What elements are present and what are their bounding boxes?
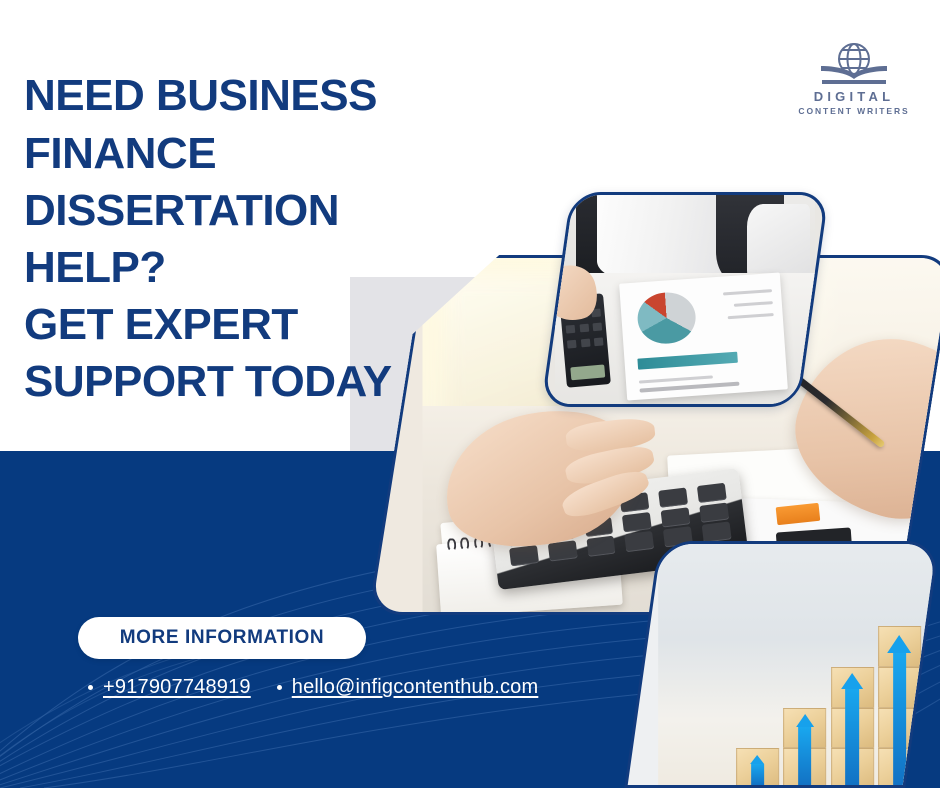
headline-line-1: NEED BUSINESS (24, 67, 494, 124)
phone-link[interactable]: +917907748919 (103, 676, 251, 699)
growth-arrow (790, 714, 820, 785)
headline-line-6: SUPPORT TODAY (24, 353, 494, 410)
globe-book-icon (815, 40, 893, 88)
logo-text-primary: DIGITAL (798, 89, 910, 104)
logo-text-secondary: CONTENT WRITERS (798, 106, 910, 116)
growth-arrow (742, 755, 772, 785)
pie-chart (636, 290, 697, 345)
brand-logo[interactable]: DIGITAL CONTENT WRITERS (798, 40, 910, 116)
financial-report-page (619, 272, 788, 400)
more-information-button[interactable]: MORE INFORMATION (78, 617, 366, 659)
email-link[interactable]: hello@infigcontenthub.com (292, 676, 539, 699)
headline-line-3: DISSERTATION (24, 182, 494, 239)
inset-photo-financial-report (541, 192, 829, 407)
headline-line-2: FINANCE (24, 125, 494, 182)
contact-email: hello@infigcontenthub.com (277, 676, 539, 699)
headline-line-4: HELP? (24, 239, 494, 296)
inset-photo-growth-blocks (624, 541, 940, 788)
bullet-icon (88, 685, 93, 690)
contact-list: +917907748919 hello@infigcontenthub.com (88, 676, 538, 699)
headline: NEED BUSINESS FINANCE DISSERTATION HELP?… (24, 67, 494, 410)
wooden-block-bar-chart (732, 575, 940, 788)
promotional-banner: NEED BUSINESS FINANCE DISSERTATION HELP?… (0, 0, 940, 788)
growth-arrow (837, 673, 867, 784)
contact-phone: +917907748919 (88, 676, 251, 699)
bullet-icon (277, 685, 282, 690)
bar-graphic (637, 352, 737, 369)
headline-line-5: GET EXPERT (24, 296, 494, 353)
